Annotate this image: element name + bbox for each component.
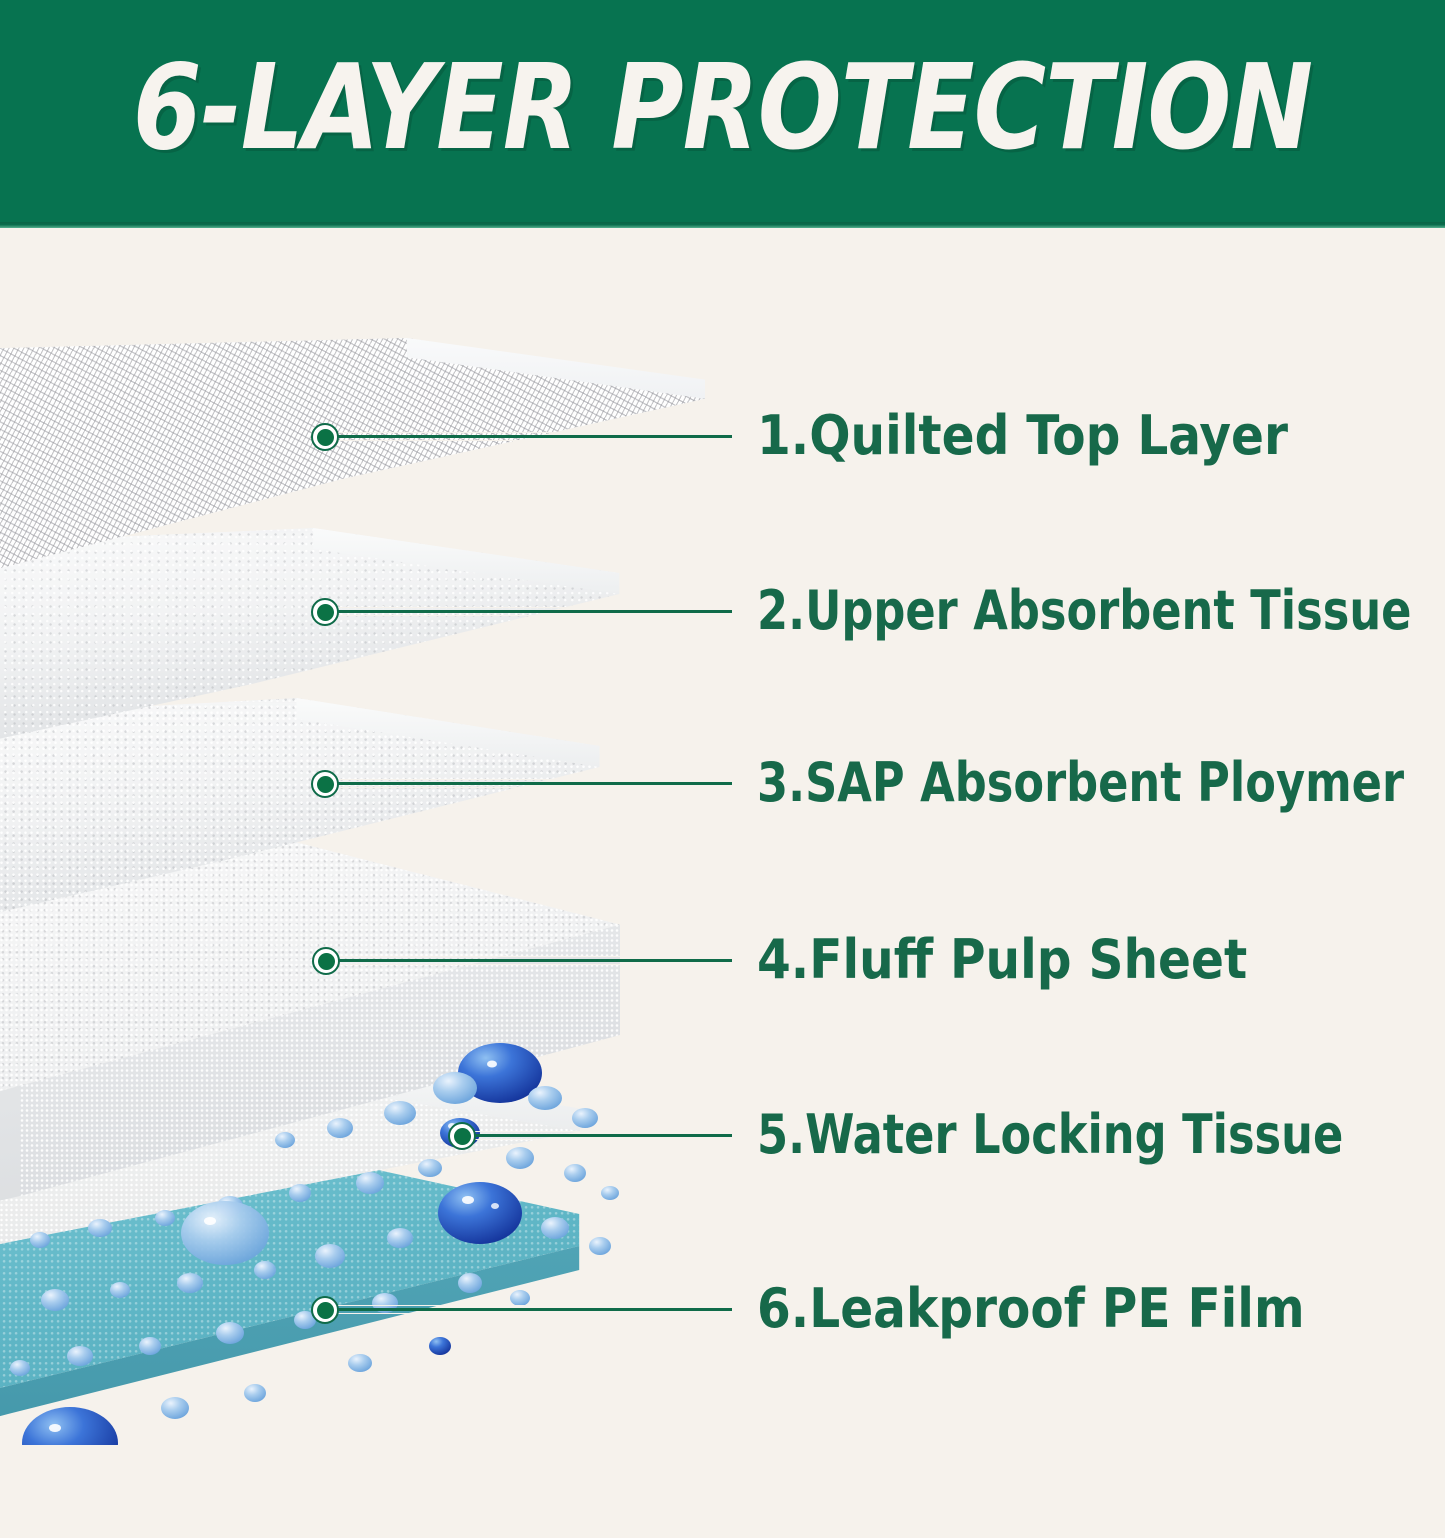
- leader-line-1: [333, 435, 732, 438]
- layer-marker-4[interactable]: [312, 947, 340, 975]
- diagram-stage: 1.Quilted Top Layer 2.Upper Absorbent Ti…: [0, 228, 1445, 1445]
- leader-line-2: [333, 610, 732, 613]
- layer-label-5: 5.Water Locking Tissue: [757, 1108, 1343, 1162]
- layer-marker-2[interactable]: [311, 598, 339, 626]
- layer-marker-1[interactable]: [311, 423, 339, 451]
- layer-marker-3[interactable]: [311, 770, 339, 798]
- layer-label-2: 2.Upper Absorbent Tissue: [757, 584, 1411, 638]
- layer-label-3: 3.SAP Absorbent Ploymer: [757, 756, 1404, 810]
- leader-line-5: [470, 1134, 732, 1137]
- layer-marker-5[interactable]: [448, 1122, 476, 1150]
- layer-label-4: 4.Fluff Pulp Sheet: [757, 933, 1247, 987]
- layer-marker-6[interactable]: [311, 1296, 339, 1324]
- layer-label-1: 1.Quilted Top Layer: [757, 409, 1288, 463]
- leader-line-4: [334, 959, 732, 962]
- page-title: 6-LAYER PROTECTION: [51, 48, 1395, 166]
- leader-line-3: [333, 782, 732, 785]
- header-banner: 6-LAYER PROTECTION: [0, 0, 1445, 228]
- leader-line-6: [333, 1308, 732, 1311]
- layer-label-6: 6.Leakproof PE Film: [757, 1282, 1305, 1336]
